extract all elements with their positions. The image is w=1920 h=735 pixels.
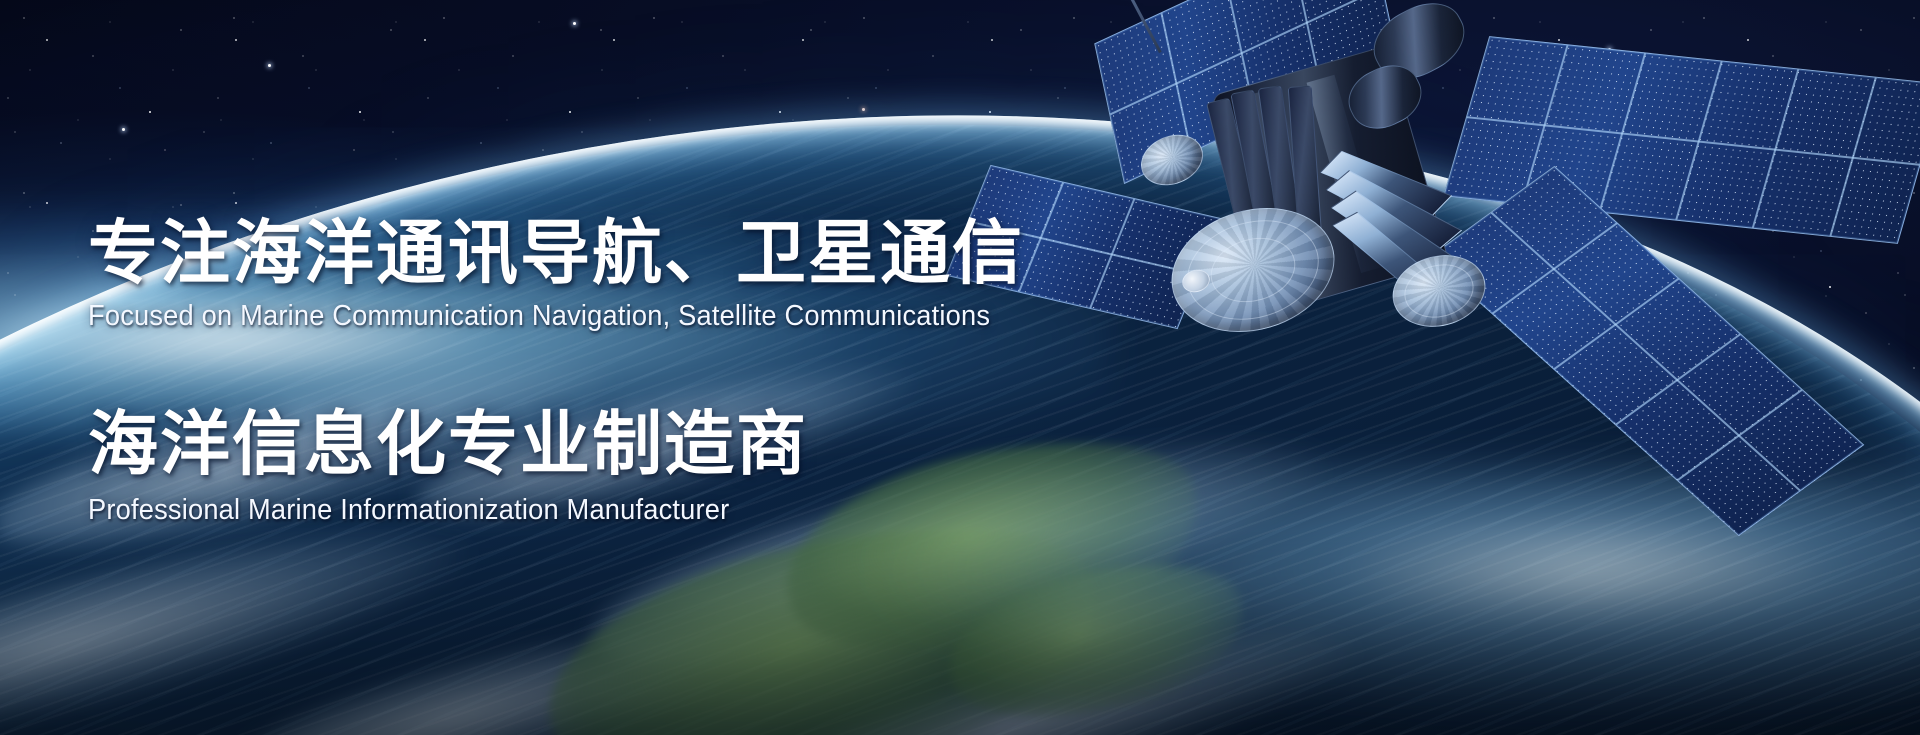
headline-primary-cn: 专注海洋通讯导航、卫星通信 xyxy=(88,218,1288,289)
headline-primary-en: Focused on Marine Communication Navigati… xyxy=(88,301,1216,333)
headline-secondary-en: Professional Marine Informationization M… xyxy=(88,495,1216,527)
headline-secondary-cn: 海洋信息化专业制造商 xyxy=(88,409,1288,480)
hero-copy: 专注海洋通讯导航、卫星通信 Focused on Marine Communic… xyxy=(88,218,1288,527)
star xyxy=(573,22,576,25)
star xyxy=(122,128,125,131)
hero-banner: 专注海洋通讯导航、卫星通信 Focused on Marine Communic… xyxy=(0,0,1920,735)
star xyxy=(268,64,271,67)
